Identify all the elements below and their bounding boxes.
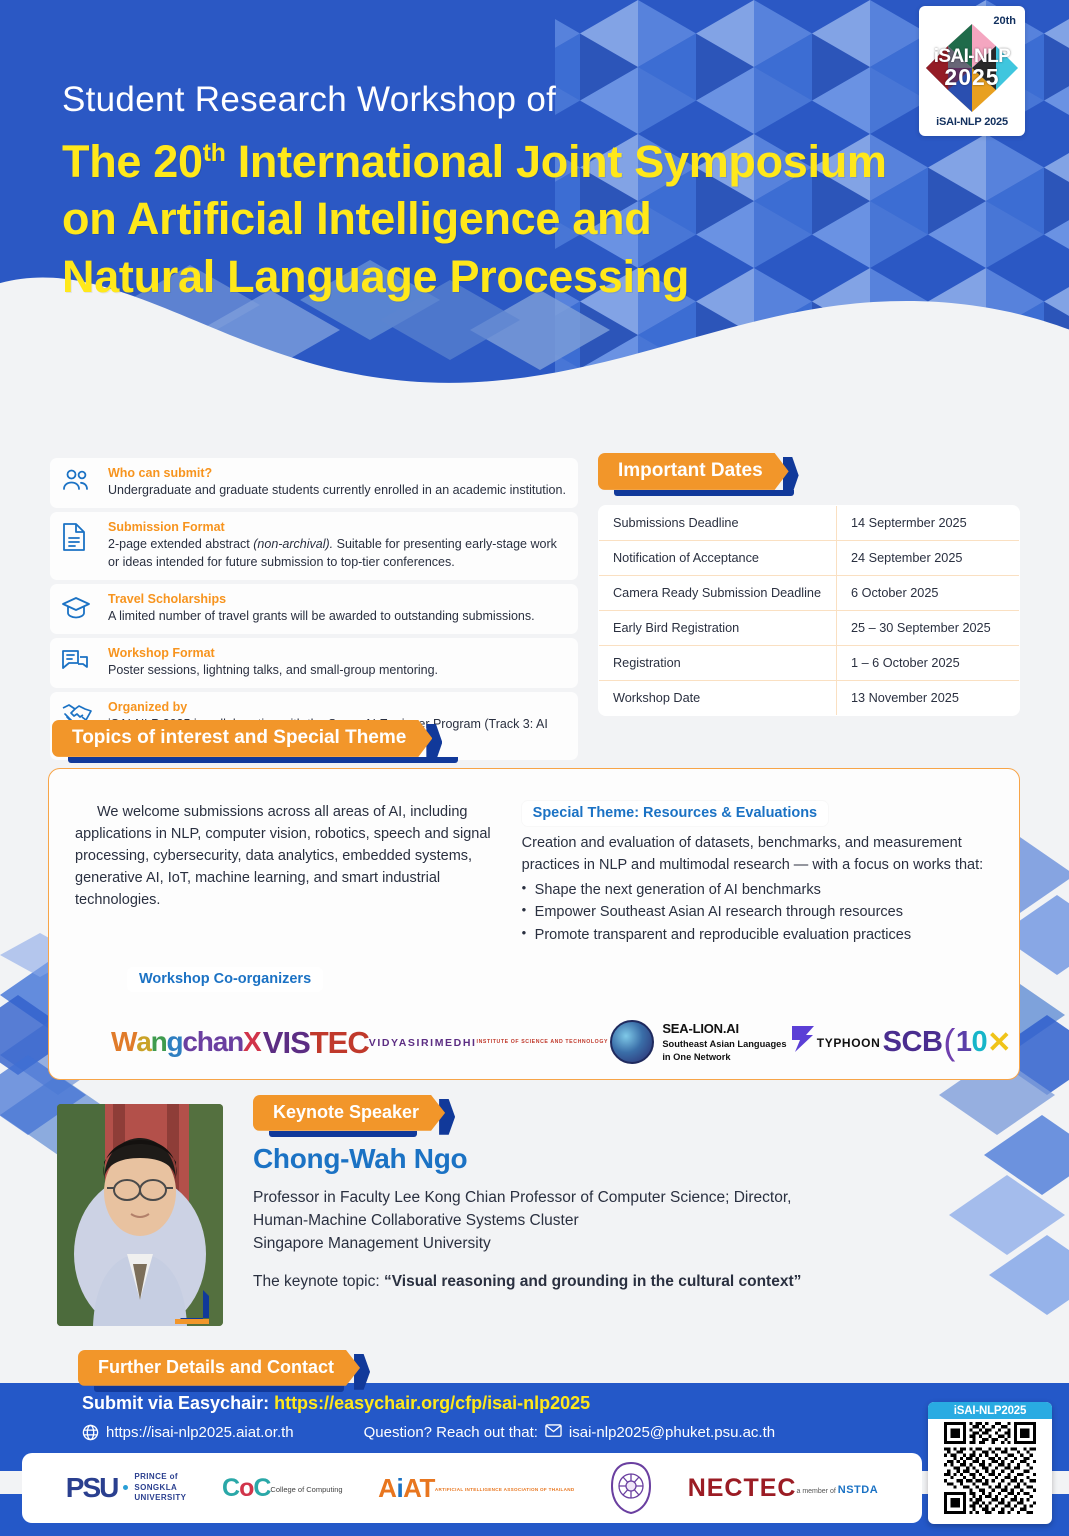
sea-lion-ai-logo: SEA-LION.AI Southeast Asian Languages in… [610,1020,786,1064]
info-title: Who can submit? [108,465,566,481]
badge-shadow [94,1386,344,1392]
badge-shadow [68,757,458,763]
header-text-block: Student Research Workshop of The 20th In… [62,78,887,306]
important-dates-section: Important Dates Submissions Deadline 14 … [598,453,1020,716]
info-row-submission-format: Submission Format 2-page extended abstra… [50,512,578,580]
users-icon [61,465,95,494]
badge-shadow [269,1131,417,1137]
nectec-mark: NECTEC [688,1476,797,1501]
date-value: 14 Septermber 2025 [837,505,1020,540]
qr-code-card[interactable]: iSAI-NLP2025 [928,1402,1052,1524]
date-label: Registration [599,645,837,680]
info-description: Poster sessions, lightning talks, and sm… [108,662,438,680]
university-seal-icon [610,1462,652,1514]
aiat-subtitle: ARTIFICIAL INTELLIGENCE ASSOCIATION OF T… [435,1487,575,1492]
psu-dot-icon [123,1485,128,1490]
coorganizers-label: Workshop Co-organizers [127,967,323,992]
nectec-subtitle: a member of NSTDA [797,1484,879,1496]
typhoon-logo: TYPHOON [789,1024,881,1060]
header-title-line2: on Artificial Intelligence and [62,190,887,248]
date-label: Notification of Acceptance [599,540,837,575]
special-theme-label: Special Theme: Resources & Evaluations [522,801,828,826]
affiliation-line-1: Professor in Faculty Lee Kong Chian Prof… [253,1186,973,1209]
graduation-cap-icon [61,591,95,620]
photo-corner-decoration [151,1290,209,1324]
info-row-who-can-submit: Who can submit? Undergraduate and gradua… [50,458,578,508]
aiat-mark: AiAT [378,1475,435,1501]
date-label: Submissions Deadline [599,505,837,540]
info-description: 2-page extended abstract (non-archival).… [108,536,567,572]
logo-diamond-graphic: iSAI-NLP 2025 [926,24,1018,112]
email-link[interactable]: isai-nlp2025@phuket.psu.ac.th [569,1424,775,1441]
vistec-subline: VIDYASIRIMEDHI [369,1038,477,1049]
badge-label: Topics of interest and Special Theme [52,720,432,757]
special-theme-body: Creation and evaluation of datasets, ben… [522,833,989,877]
keynote-details: Keynote Speaker Chong-Wah Ngo Professor … [253,1095,973,1291]
info-description: A limited number of travel grants will b… [108,608,535,626]
badge-label: Further Details and Contact [78,1350,360,1386]
wangchanx-logo: WangchanX [111,1026,260,1058]
special-theme-column: Special Theme: Resources & Evaluations C… [522,801,989,947]
sea-lion-tagline-2: in One Network [662,1051,786,1064]
keynote-section: Keynote Speaker Chong-Wah Ngo Professor … [0,1095,1069,1365]
date-value: 24 September 2025 [837,540,1020,575]
keynote-speaker-name: Chong-Wah Ngo [253,1143,973,1175]
psu-name: PRINCE of SONGKLA UNIVERSITY [134,1472,186,1504]
logo-text-bottom: 2025 [926,66,1018,89]
sea-lion-tagline-1: Southeast Asian Languages [662,1038,786,1051]
info-row-travel-scholarships: Travel Scholarships A limited number of … [50,584,578,634]
psu-mark: PSU [66,1472,118,1504]
header-pretitle: Student Research Workshop of [62,78,887,122]
qr-code-image[interactable] [934,1422,1046,1514]
topics-card: We welcome submissions across all areas … [48,768,1020,1080]
scb-wordmark: SCB [883,1026,943,1059]
info-title: Organized by [108,699,567,715]
submit-label: Submit via Easychair: [82,1393,274,1413]
important-dates-table: Submissions Deadline 14 Septermber 2025 … [598,505,1020,716]
aiat-logo: AiAT ARTIFICIAL INTELLIGENCE ASSOCIATION… [378,1475,574,1501]
nectec-logo: NECTEC a member of NSTDA [688,1476,878,1501]
psu-logo: PSU PRINCE of SONGKLA UNIVERSITY [66,1472,187,1504]
keynote-topic-prefix: The keynote topic: [253,1273,384,1290]
coc-subtitle: College of Computing [270,1485,342,1494]
badge-label: Keynote Speaker [253,1095,445,1131]
info-title: Travel Scholarships [108,591,535,607]
list-item: Shape the next generation of AI benchmar… [522,879,989,902]
scb-paren: ( [943,1021,955,1063]
header-title: The 20th International Joint Symposium o… [62,133,887,306]
date-label: Workshop Date [599,680,837,715]
typhoon-wordmark: TYPHOON [817,1036,881,1050]
keynote-speaker-photo [57,1104,223,1326]
topics-badge: Topics of interest and Special Theme [52,720,432,757]
document-icon [61,519,95,552]
header-title-line1: The 20th International Joint Symposium [62,133,887,191]
special-theme-bullets: Shape the next generation of AI benchmar… [522,879,989,948]
sea-lion-mark-icon [610,1020,654,1064]
logo-caption: iSAI-NLP 2025 [936,116,1008,128]
sea-lion-wordmark: SEA-LION.AI [662,1021,739,1036]
info-title: Submission Format [108,519,567,535]
ordinal-suffix: th [203,140,226,167]
globe-icon [82,1424,99,1441]
keynote-topic-title: “Visual reasoning and grounding in the c… [384,1273,801,1290]
topics-body-text: We welcome submissions across all areas … [75,801,494,911]
info-row-workshop-format: Workshop Format Poster sessions, lightni… [50,638,578,688]
website-link[interactable]: https://isai-nlp2025.aiat.or.th [106,1424,294,1441]
typhoon-mark-icon [789,1024,817,1060]
info-description: Undergraduate and graduate students curr… [108,482,566,500]
date-label: Camera Ready Submission Deadline [599,575,837,610]
table-row: Workshop Date 13 November 2025 [599,680,1020,715]
coc-logo: CoC College of Computing [222,1476,343,1501]
table-row: Early Bird Registration 25 – 30 Septembe… [599,610,1020,645]
poster-body: Who can submit? Undergraduate and gradua… [0,395,1069,1536]
question-label: Question? Reach out that: [364,1424,538,1441]
table-row: Submissions Deadline 14 Septermber 2025 [599,505,1020,540]
date-value: 6 October 2025 [837,575,1020,610]
date-value: 25 – 30 September 2025 [837,610,1020,645]
poster-header: Student Research Workshop of The 20th In… [0,0,1069,400]
table-row: Notification of Acceptance 24 September … [599,540,1020,575]
keynote-topic: The keynote topic: “Visual reasoning and… [253,1273,973,1291]
envelope-icon [545,1424,562,1441]
important-dates-badge: Important Dates [598,453,789,490]
date-value: 1 – 6 October 2025 [837,645,1020,680]
easychair-link[interactable]: https://easychair.org/cfp/isai-nlp2025 [274,1393,590,1413]
date-value: 13 November 2025 [837,680,1020,715]
coc-mark: CoC [222,1476,270,1501]
scb-0: 0 [972,1026,988,1059]
vistec-tagline: INSTITUTE OF SCIENCE AND TECHNOLOGY [477,1040,608,1045]
list-item: Promote transparent and reproducible eva… [522,924,989,947]
scb-10x-logo: SCB(10✕ [883,1021,1011,1063]
topics-body-column: We welcome submissions across all areas … [75,801,494,947]
affiliation-line-3: Singapore Management University [253,1232,973,1255]
info-title: Workshop Format [108,645,438,661]
submission-info-list: Who can submit? Undergraduate and gradua… [50,458,578,764]
affiliation-line-2: Human-Machine Collaborative Systems Clus… [253,1209,973,1232]
university-seal-logo [610,1462,652,1514]
scb-x: ✕ [987,1025,1011,1060]
isai-nlp-logo-badge: 20th iSAI-NLP 2025 iSAI-NLP 2025 [919,6,1025,136]
table-row: Camera Ready Submission Deadline 6 Octob… [599,575,1020,610]
keynote-affiliation: Professor in Faculty Lee Kong Chian Prof… [253,1186,973,1256]
list-item: Empower Southeast Asian AI research thro… [522,901,989,924]
contact-line: https://isai-nlp2025.aiat.or.th Question… [82,1424,775,1441]
keynote-badge: Keynote Speaker [253,1095,445,1131]
sponsor-logos-bar: PSU PRINCE of SONGKLA UNIVERSITY CoC Col… [22,1453,922,1523]
contact-badge: Further Details and Contact [78,1350,360,1386]
submit-line: Submit via Easychair: https://easychair.… [82,1393,775,1414]
header-title-line3: Natural Language Processing [62,248,887,306]
table-row: Registration 1 – 6 October 2025 [599,645,1020,680]
coorganizer-logos-row: WangchanX VISTEC VIDYASIRIMEDHI INSTITUT… [111,1007,1011,1077]
date-label: Early Bird Registration [599,610,837,645]
badge-label: Important Dates [598,453,789,490]
qr-caption: iSAI-NLP2025 [928,1402,1052,1419]
vistec-wordmark: VISTEC [263,1027,369,1058]
chat-bubbles-icon [61,645,95,676]
scb-1: 1 [956,1026,972,1059]
vistec-logo: VISTEC VIDYASIRIMEDHI INSTITUTE OF SCIEN… [263,1027,608,1058]
badge-shadow [614,490,794,496]
